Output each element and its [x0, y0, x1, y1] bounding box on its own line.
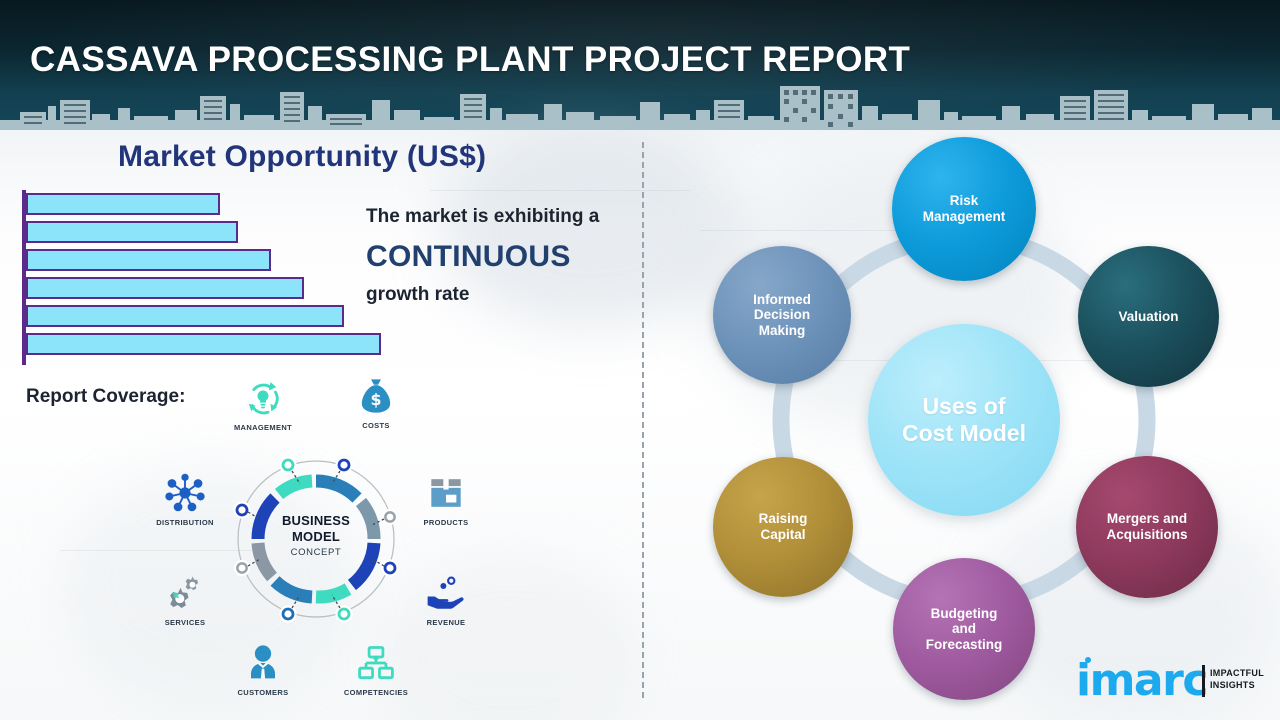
hand-coins-icon [398, 570, 494, 616]
node-mergers-line1: Mergers and [1106, 511, 1187, 527]
bar-4 [26, 305, 344, 327]
node-risk-management-line1: Risk [923, 193, 1006, 209]
business-model-wheel: BUSINESS MODEL CONCEPT [230, 453, 402, 625]
imarc-logo[interactable]: imarc IMPACTFUL INSIGHTS [1076, 655, 1272, 711]
node-valuation-line1: Valuation [1118, 309, 1178, 325]
org-chart-icon [328, 640, 424, 686]
header-banner: CASSAVA PROCESSING PLANT PROJECT REPORT [0, 0, 1280, 130]
logo-tagline-line2: INSIGHTS [1210, 680, 1255, 690]
coverage-label-distribution: DISTRIBUTION [137, 518, 233, 527]
node-valuation[interactable]: Valuation [1078, 246, 1219, 387]
node-budgeting-line1: Budgeting [926, 606, 1003, 622]
coverage-label-competencies: COMPETENCIES [328, 688, 424, 697]
coverage-item-products: PRODUCTS [398, 470, 494, 527]
svg-text:$: $ [370, 390, 381, 409]
coverage-item-services: SERVICES [137, 570, 233, 627]
coverage-item-customers: CUSTOMERS [215, 640, 311, 697]
node-risk-management-line2: Management [923, 209, 1006, 225]
coverage-label-customers: CUSTOMERS [215, 688, 311, 697]
coverage-item-costs: $ COSTS [328, 373, 424, 430]
logo-tagline-line1: IMPACTFUL [1210, 668, 1264, 678]
coverage-item-competencies: COMPETENCIES [328, 640, 424, 697]
wheel-text-business: BUSINESS [230, 513, 402, 528]
node-mergers-and-acquisitions[interactable]: Mergers and Acquisitions [1076, 456, 1218, 598]
node-raising-capital-line1: Raising [759, 511, 808, 527]
node-risk-management[interactable]: Risk Management [892, 137, 1036, 281]
coverage-item-management: MANAGEMENT [215, 375, 311, 432]
page-title: CASSAVA PROCESSING PLANT PROJECT REPORT [30, 40, 910, 80]
coverage-item-distribution: DISTRIBUTION [137, 470, 233, 527]
market-opportunity-title: Market Opportunity (US$) [118, 140, 486, 174]
center-line2: Cost Model [902, 420, 1026, 447]
node-center-uses-of-cost-model[interactable]: Uses of Cost Model [868, 324, 1060, 516]
node-budgeting-line2: and [926, 621, 1003, 637]
node-informed-line1: Informed [753, 292, 811, 308]
coverage-item-revenue: REVENUE [398, 570, 494, 627]
bar-1 [26, 221, 238, 243]
node-informed-line2: Decision [753, 307, 811, 323]
user-person-icon [215, 640, 311, 686]
node-mergers-line2: Acquisitions [1106, 527, 1187, 543]
report-coverage-diagram: MANAGEMENT $ COSTS [130, 375, 500, 705]
market-text-line3: growth rate [366, 284, 469, 306]
logo-wordmark: imarc [1076, 659, 1207, 703]
node-raising-capital[interactable]: Raising Capital [713, 457, 853, 597]
network-nodes-icon [137, 470, 233, 516]
node-informed-decision-making[interactable]: Informed Decision Making [713, 246, 851, 384]
node-raising-capital-line2: Capital [759, 527, 808, 543]
market-text-emphasis: CONTINUOUS [366, 240, 571, 274]
coverage-label-services: SERVICES [137, 618, 233, 627]
node-informed-line3: Making [753, 323, 811, 339]
uses-of-cost-model-diagram: Risk Management Valuation Mergers and Ac… [644, 130, 1280, 720]
coverage-label-revenue: REVENUE [398, 618, 494, 627]
recycle-lightbulb-icon [215, 375, 311, 421]
logo-divider [1202, 665, 1205, 697]
box-package-icon [398, 470, 494, 516]
slide-canvas: CASSAVA PROCESSING PLANT PROJECT REPORT … [0, 0, 1280, 720]
node-budgeting-and-forecasting[interactable]: Budgeting and Forecasting [893, 558, 1035, 700]
wheel-text-concept: CONCEPT [230, 547, 402, 558]
center-line1: Uses of [902, 393, 1026, 420]
coverage-label-products: PRODUCTS [398, 518, 494, 527]
coverage-label-management: MANAGEMENT [215, 423, 311, 432]
market-opportunity-bar-chart [22, 190, 402, 365]
bar-5 [26, 333, 381, 355]
gears-icon [137, 570, 233, 616]
bar-2 [26, 249, 271, 271]
node-budgeting-line3: Forecasting [926, 637, 1003, 653]
money-bag-icon: $ [328, 373, 424, 419]
bar-3 [26, 277, 304, 299]
wheel-text-model: MODEL [230, 529, 402, 544]
bar-0 [26, 193, 220, 215]
market-text-line1: The market is exhibiting a [366, 206, 599, 228]
coverage-label-costs: COSTS [328, 421, 424, 430]
